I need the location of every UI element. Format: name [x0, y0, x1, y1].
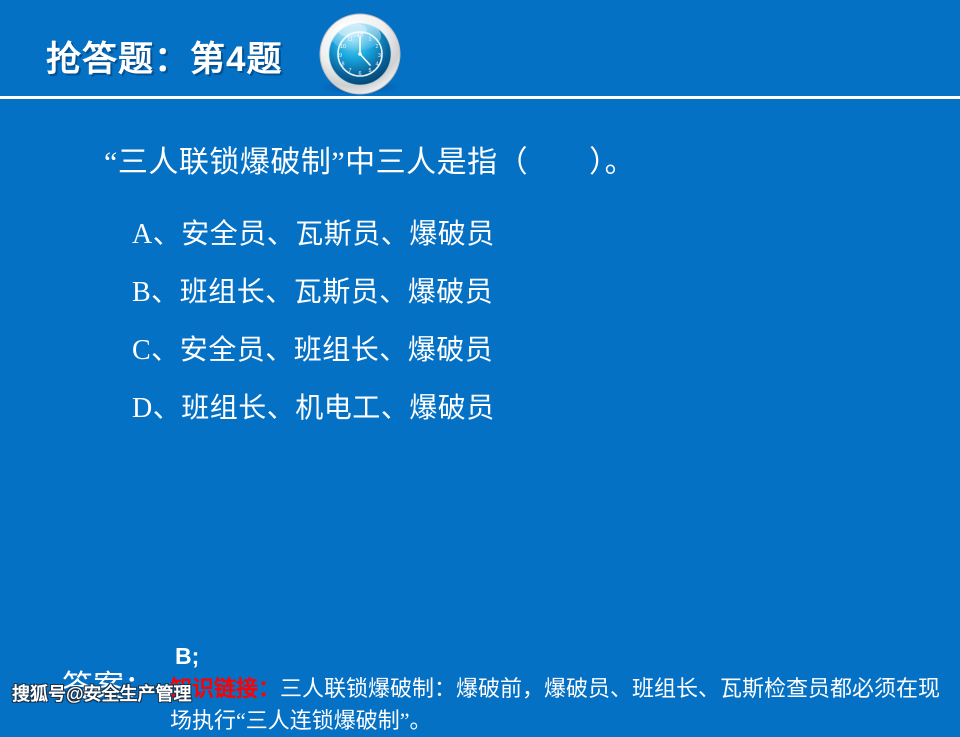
svg-text:3: 3 [378, 53, 381, 59]
options-list: A、安全员、瓦斯员、爆破员 B、班组长、瓦斯员、爆破员 C、安全员、班组长、爆破… [132, 206, 832, 438]
svg-text:5: 5 [369, 68, 372, 74]
explanation-text: 三人联锁爆破制：爆破前，爆破员、班组长、瓦斯检查员都必须在现场执行“三人连锁爆破… [170, 676, 940, 733]
svg-text:4: 4 [376, 62, 379, 68]
svg-text:8: 8 [342, 62, 345, 68]
clock-icon-graphic: 12 1 2 3 4 5 6 7 8 9 10 11 [312, 12, 408, 100]
slide-body: “三人联锁爆破制”中三人是指（ ）。 A、安全员、瓦斯员、爆破员 B、班组长、瓦… [0, 98, 960, 658]
option-b-letter: B、 [132, 277, 180, 308]
answer-explanation: 知识链接：三人联锁爆破制：爆破前，爆破员、班组长、瓦斯检查员都必须在现场执行“三… [170, 673, 960, 737]
option-d[interactable]: D、班组长、机电工、爆破员 [132, 380, 832, 438]
answer-letter: B; [175, 643, 199, 669]
option-b[interactable]: B、班组长、瓦斯员、爆破员 [132, 264, 832, 322]
option-b-text: 班组长、瓦斯员、爆破员 [180, 277, 494, 308]
svg-text:9: 9 [339, 53, 342, 59]
option-d-letter: D、 [132, 393, 181, 424]
option-a[interactable]: A、安全员、瓦斯员、爆破员 [132, 206, 832, 264]
page-title: 抢答题：第4题 [46, 38, 282, 82]
slide-root: 抢答题：第4题 [0, 0, 960, 720]
option-d-text: 班组长、机电工、爆破员 [181, 393, 495, 424]
svg-text:6: 6 [359, 71, 362, 77]
option-a-letter: A、 [132, 219, 181, 250]
watermark: 搜狐号@安全生产管理 [12, 683, 192, 705]
question-text: “三人联锁爆破制”中三人是指（ ）。 [104, 144, 635, 182]
option-c-letter: C、 [132, 335, 180, 366]
slide-header: 抢答题：第4题 [0, 0, 960, 98]
option-a-text: 安全员、瓦斯员、爆破员 [181, 219, 495, 250]
option-c-text: 安全员、班组长、爆破员 [180, 335, 494, 366]
clock-timer-icon: 12 1 2 3 4 5 6 7 8 9 10 11 [312, 12, 408, 100]
svg-text:7: 7 [349, 68, 352, 74]
option-c[interactable]: C、安全员、班组长、爆破员 [132, 322, 832, 380]
